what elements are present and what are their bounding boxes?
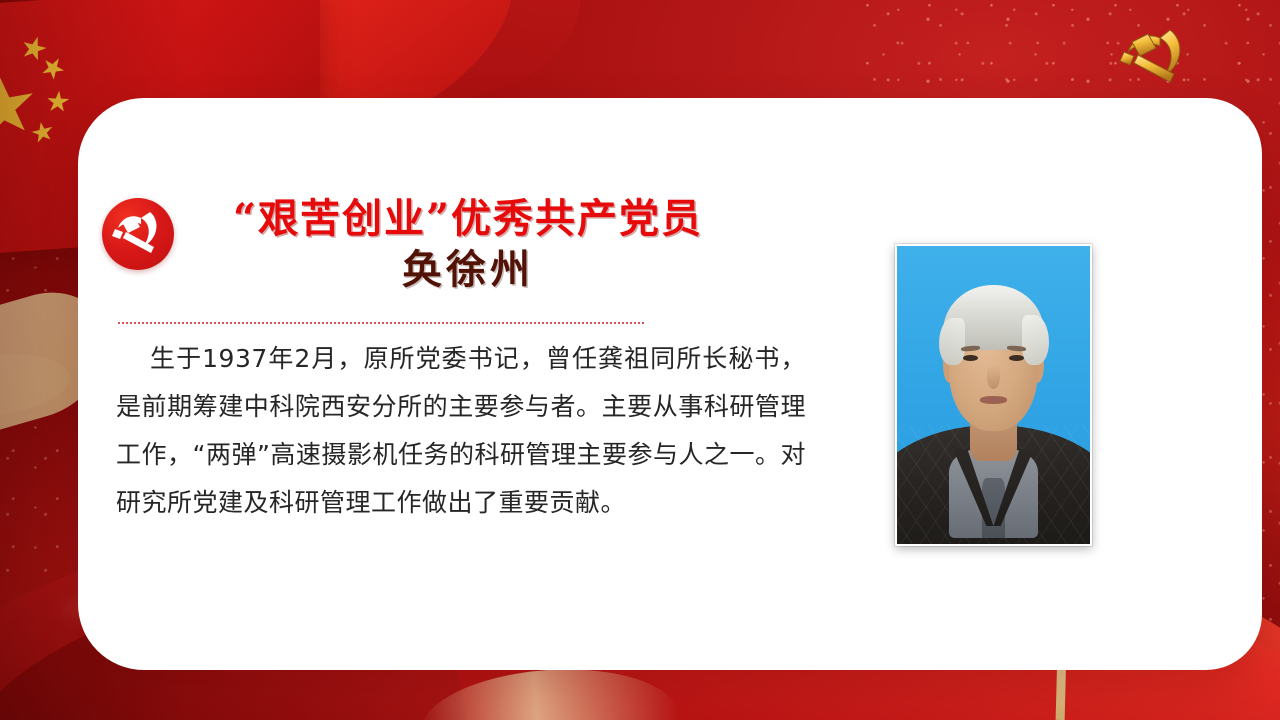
biography-text: 生于1937年2月，原所党委书记，曾任龚祖同所长秘书，是前期筹建中科院西安分所的…: [116, 335, 806, 527]
portrait-hair-left: [939, 318, 964, 366]
portrait-photo: [895, 244, 1092, 546]
title-block: “艰苦创业”优秀共产党员 奂徐州: [188, 194, 748, 294]
content-card: “艰苦创业”优秀共产党员 奂徐州 生于1937年2月，原所党委书记，曾任龚祖同所…: [78, 98, 1262, 670]
portrait-nose: [987, 365, 1001, 389]
slide-root: “艰苦创业”优秀共产党员 奂徐州 生于1937年2月，原所党委书记，曾任龚祖同所…: [0, 0, 1280, 720]
person-name: 奂徐州: [188, 246, 748, 295]
portrait-mouth: [980, 396, 1007, 403]
dotted-divider: [118, 322, 644, 324]
portrait-photo-image: [897, 246, 1090, 544]
page-title: “艰苦创业”优秀共产党员: [188, 194, 748, 244]
cpc-hammer-sickle-emblem-icon: [1108, 22, 1200, 94]
portrait-hair-right: [1022, 315, 1049, 366]
cpc-party-emblem-badge-icon: [102, 198, 174, 270]
